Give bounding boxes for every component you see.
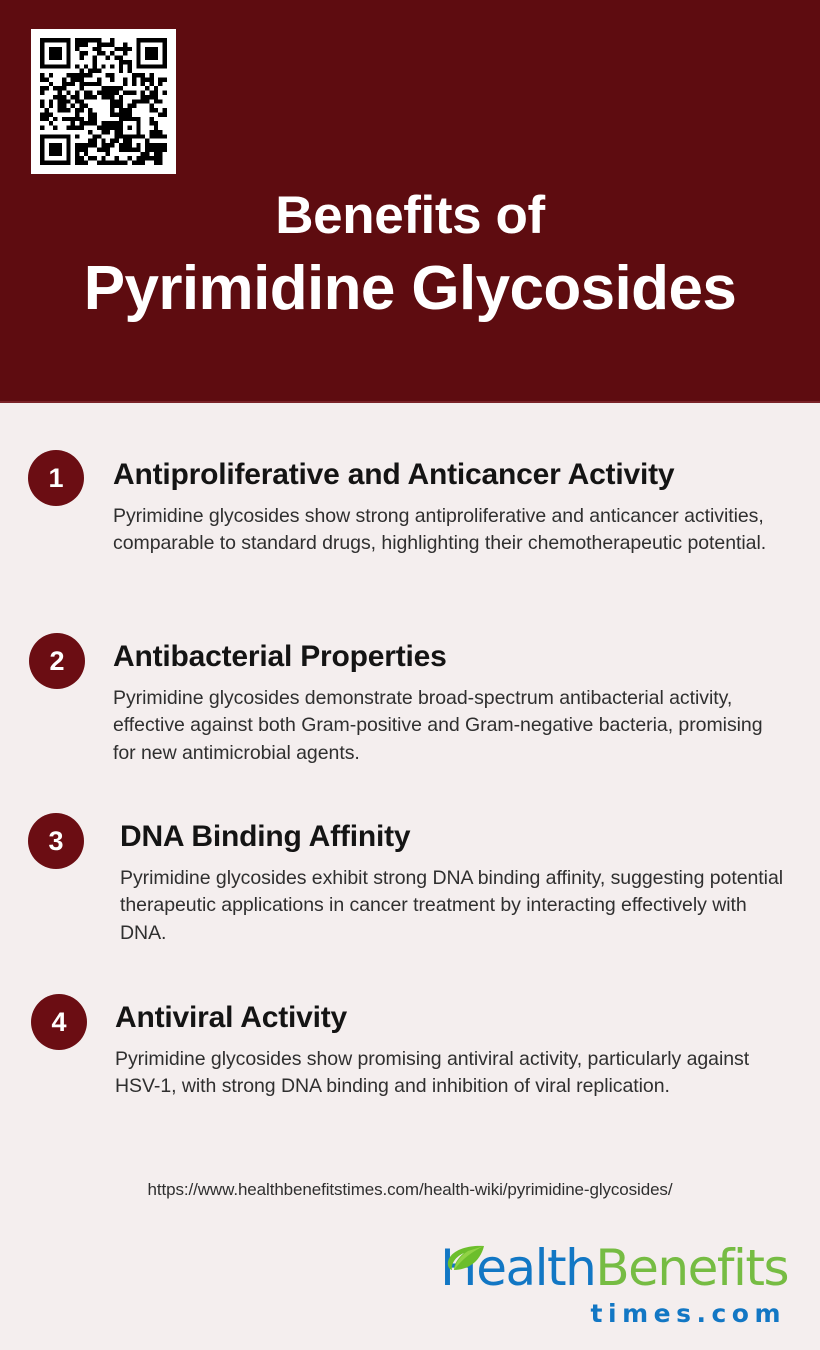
benefit-content: Antiproliferative and Anticancer Activit… [113,403,788,558]
benefit-content: Antiviral Activity Pyrimidine glycosides… [115,946,775,1101]
benefit-content: DNA Binding Affinity Pyrimidine glycosid… [120,763,790,948]
benefit-title: Antiviral Activity [115,1001,775,1036]
site-logo[interactable]: HealthBenefits times.com [438,1243,788,1331]
benefit-number-badge: 1 [28,450,84,506]
page-title: Benefits of Pyrimidine Glycosides [0,186,820,325]
header-banner: Benefits of Pyrimidine Glycosides [0,0,820,403]
benefits-list: 1 Antiproliferative and Anticancer Activ… [0,403,820,1114]
list-item: 4 Antiviral Activity Pyrimidine glycosid… [0,946,820,1114]
list-item: 2 Antibacterial Properties Pyrimidine gl… [0,583,820,763]
list-item: 3 DNA Binding Affinity Pyrimidine glycos… [0,763,820,946]
benefit-title: Antibacterial Properties [113,640,773,675]
logo-text-benefits: Benefits [595,1239,788,1297]
benefit-title: Antiproliferative and Anticancer Activit… [113,458,788,493]
logo-text-health: Health [440,1239,595,1297]
logo-wordmark: HealthBenefits [438,1243,788,1293]
list-item: 1 Antiproliferative and Anticancer Activ… [0,403,820,583]
page-title-line2: Pyrimidine Glycosides [0,253,820,324]
benefit-number-badge: 2 [29,633,85,689]
benefit-description: Pyrimidine glycosides demonstrate broad-… [113,685,773,769]
source-url[interactable]: https://www.healthbenefitstimes.com/heal… [0,1180,820,1200]
qr-code-image [40,38,167,165]
benefit-description: Pyrimidine glycosides show promising ant… [115,1046,775,1102]
page-title-line1: Benefits of [0,186,820,245]
benefit-number-badge: 4 [31,994,87,1050]
benefit-title: DNA Binding Affinity [120,820,790,855]
benefit-description: Pyrimidine glycosides show strong antipr… [113,503,788,559]
benefit-content: Antibacterial Properties Pyrimidine glyc… [113,583,773,768]
logo-text-domain: times.com [438,1299,788,1328]
benefit-number-badge: 3 [28,813,84,869]
qr-code[interactable] [31,29,176,174]
benefit-description: Pyrimidine glycosides exhibit strong DNA… [120,865,790,949]
